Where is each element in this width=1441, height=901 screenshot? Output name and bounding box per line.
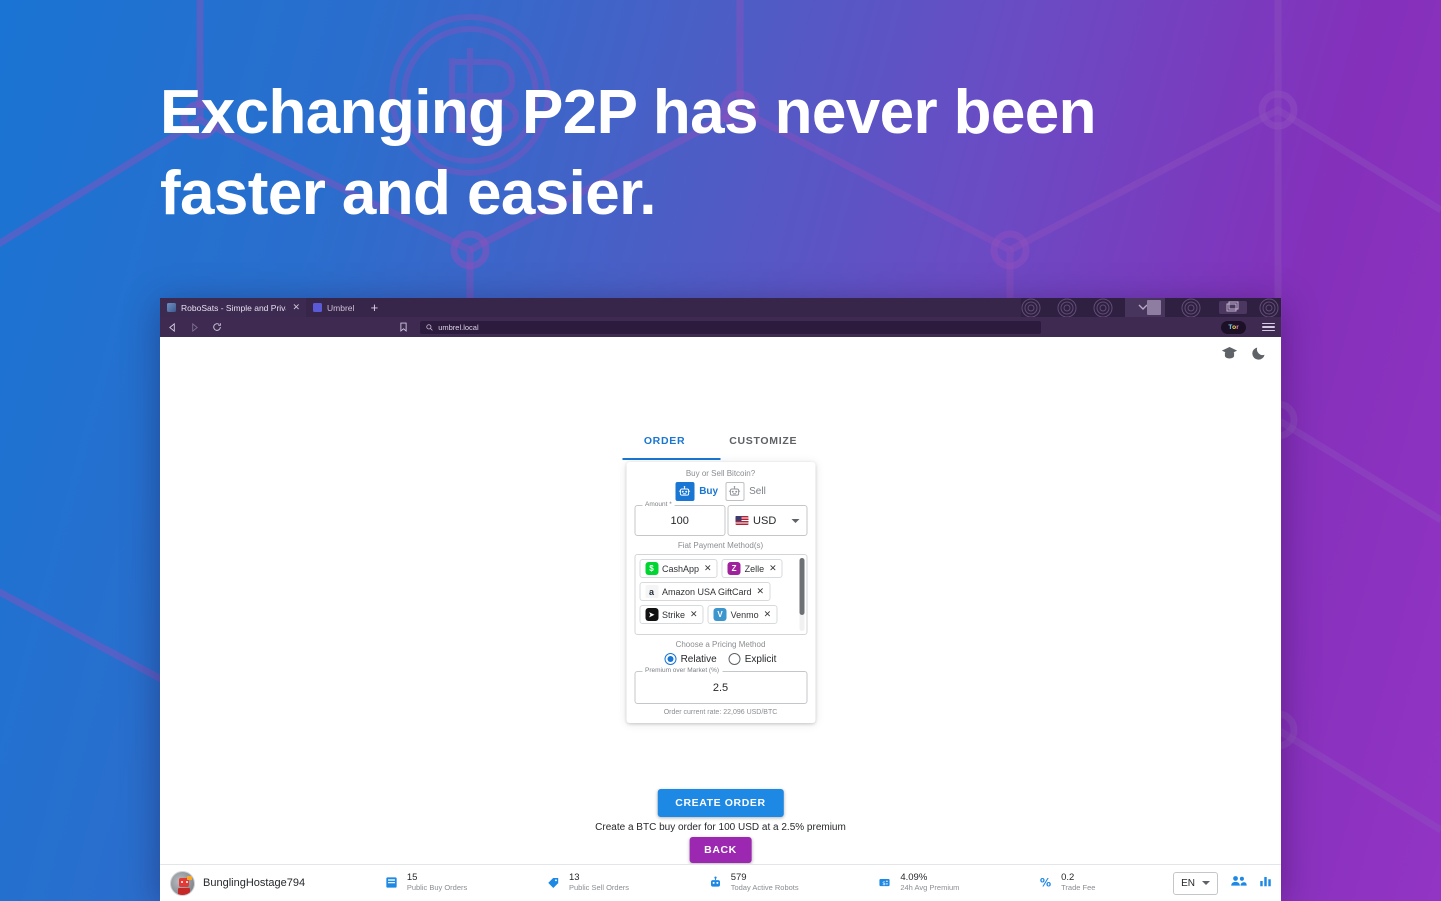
robot-icon <box>707 874 724 891</box>
address-bar-value: umbrel.local <box>438 323 478 332</box>
percent-icon: % <box>1037 874 1054 891</box>
tor-badge[interactable]: Tor <box>1221 321 1246 334</box>
amount-value: 100 <box>670 515 688 527</box>
stat-public-buy-orders: 15 Public Buy Orders <box>383 873 467 893</box>
chip-remove-icon[interactable]: ✕ <box>704 563 712 574</box>
chip-label: Amazon USA GiftCard <box>662 587 752 597</box>
book-icon <box>383 874 400 891</box>
payment-chip-zelle[interactable]: Z Zelle ✕ <box>722 559 783 578</box>
premium-field[interactable]: Premium over Market (%) 2.5 <box>634 671 807 704</box>
chip-remove-icon[interactable]: ✕ <box>690 609 698 620</box>
payment-chip-amazon-giftcard[interactable]: a Amazon USA GiftCard ✕ <box>639 582 770 601</box>
chip-label: Venmo <box>731 610 759 620</box>
browser-window: RoboSats - Simple and Private Bit ✕ Umbr… <box>160 298 1281 901</box>
screenshot-stage: Exchanging P2P has never been faster and… <box>0 0 1441 901</box>
forward-arrow-icon <box>188 321 201 334</box>
payment-methods-box[interactable]: $ CashApp ✕ Z Zelle ✕ a Amazon USA GiftC… <box>634 554 807 635</box>
stat-trade-fee: % 0.2 Trade Fee <box>1037 873 1095 893</box>
buy-sell-toggle: Buy Sell <box>634 482 807 501</box>
create-order-button[interactable]: CREATE ORDER <box>657 789 783 817</box>
tab-customize[interactable]: CUSTOMIZE <box>707 429 819 456</box>
stat-public-sell-orders: 13 Public Sell Orders <box>545 873 629 893</box>
tab-close-icon[interactable]: ✕ <box>292 303 300 312</box>
headline-line-1: Exchanging P2P has never been <box>160 72 1160 153</box>
stat-label: Public Sell Orders <box>569 884 629 893</box>
browser-tab-robosats[interactable]: RoboSats - Simple and Private Bit ✕ <box>160 298 306 317</box>
chip-label: Strike <box>662 610 685 620</box>
tab-title: RoboSats - Simple and Private Bit <box>181 303 286 313</box>
robot-avatar[interactable] <box>170 871 195 896</box>
browser-navigation-bar: umbrel.local Tor <box>160 317 1281 337</box>
app-page: ORDER CUSTOMIZE Buy or Sell Bitcoin? <box>160 337 1281 901</box>
robosats-favicon <box>167 303 176 312</box>
amount-and-currency-row: Amount * 100 USD <box>634 505 807 536</box>
app-top-icons <box>1221 345 1267 360</box>
titlebar-decorative-pattern <box>1021 298 1281 317</box>
community-people-icon[interactable] <box>1230 874 1247 893</box>
buy-sell-question: Buy or Sell Bitcoin? <box>634 469 807 478</box>
stat-24h-avg-premium: $ 4.09% 24h Avg Premium <box>876 873 959 893</box>
cashapp-icon: $ <box>645 562 658 575</box>
tag-icon <box>545 874 562 891</box>
app-tab-bar: ORDER CUSTOMIZE <box>160 429 1281 456</box>
app-status-bar: BunglingHostage794 15 Public Buy Orders <box>160 864 1281 901</box>
headline-line-2: faster and easier. <box>160 153 1160 234</box>
tab-order[interactable]: ORDER <box>622 429 707 456</box>
amount-legend: Amount * <box>642 501 675 508</box>
stat-label: Trade Fee <box>1061 884 1095 893</box>
radio-selected-icon <box>665 653 677 665</box>
amount-field[interactable]: Amount * 100 <box>634 505 725 536</box>
order-summary-text: Create a BTC buy order for 100 USD at a … <box>160 822 1281 833</box>
payment-chip-cashapp[interactable]: $ CashApp ✕ <box>639 559 718 578</box>
browser-tab-umbrel[interactable]: Umbrel <box>306 298 360 317</box>
payment-methods-scrollbar-thumb[interactable] <box>799 558 804 615</box>
radio-unselected-icon <box>729 653 741 665</box>
chevron-down-icon <box>791 519 799 523</box>
chip-label: CashApp <box>662 564 699 574</box>
hero-headline: Exchanging P2P has never been faster and… <box>160 72 1160 234</box>
us-flag-icon <box>735 516 748 525</box>
currency-select[interactable]: USD <box>727 505 807 536</box>
search-icon <box>426 324 433 331</box>
stat-today-active-robots: 579 Today Active Robots <box>707 873 799 893</box>
language-select[interactable]: EN <box>1173 872 1218 895</box>
sell-option[interactable]: Sell <box>725 482 766 501</box>
new-tab-button[interactable]: + <box>360 298 388 317</box>
order-current-rate: Order current rate: 22,096 USD/BTC <box>634 709 807 716</box>
dark-mode-moon-icon[interactable] <box>1252 345 1267 360</box>
pricing-method-radio-group: Relative Explicit <box>634 653 807 665</box>
price-tag-icon: $ <box>876 874 893 891</box>
premium-legend: Premium over Market (%) <box>642 667 722 674</box>
stat-label: Today Active Robots <box>731 884 799 893</box>
nickname-label: BunglingHostage794 <box>203 877 305 889</box>
zelle-icon: Z <box>728 562 741 575</box>
payment-methods-label: Fiat Payment Method(s) <box>634 541 807 550</box>
buy-option[interactable]: Buy <box>675 482 718 501</box>
chip-remove-icon[interactable]: ✕ <box>769 563 777 574</box>
pricing-option-explicit[interactable]: Explicit <box>729 653 777 665</box>
stats-chart-icon[interactable] <box>1258 874 1273 893</box>
payment-chip-strike[interactable]: ➤ Strike ✕ <box>639 605 704 624</box>
order-form-card: Buy or Sell Bitcoin? Buy <box>626 462 815 723</box>
pricing-option-relative[interactable]: Relative <box>665 653 717 665</box>
robot-icon-buy <box>675 482 694 501</box>
svg-text:$: $ <box>883 881 887 887</box>
buy-label: Buy <box>699 486 718 497</box>
stat-label: 24h Avg Premium <box>900 884 959 893</box>
chevron-down-icon <box>1202 881 1210 885</box>
stat-label: Public Buy Orders <box>407 884 467 893</box>
currency-value: USD <box>753 515 776 527</box>
back-arrow-icon[interactable] <box>166 321 179 334</box>
chip-remove-icon[interactable]: ✕ <box>764 609 772 620</box>
sell-label: Sell <box>749 486 766 497</box>
premium-value: 2.5 <box>713 682 728 694</box>
robot-icon-sell <box>725 482 744 501</box>
active-tab-indicator <box>622 458 819 460</box>
reload-icon[interactable] <box>210 321 223 334</box>
venmo-icon: V <box>714 608 727 621</box>
language-value: EN <box>1181 878 1195 889</box>
chip-label: Zelle <box>745 564 765 574</box>
umbrel-favicon <box>313 303 322 312</box>
relative-label: Relative <box>681 654 717 665</box>
address-bar[interactable]: umbrel.local <box>420 321 1041 334</box>
browser-tab-strip: RoboSats - Simple and Private Bit ✕ Umbr… <box>160 298 1281 317</box>
hamburger-menu-icon[interactable] <box>1262 323 1275 332</box>
pricing-method-label: Choose a Pricing Method <box>634 640 807 649</box>
chip-remove-icon[interactable]: ✕ <box>757 586 765 597</box>
svg-text:%: % <box>1040 877 1051 890</box>
status-bar-icons <box>1230 874 1273 893</box>
strike-icon: ➤ <box>645 608 658 621</box>
amazon-icon: a <box>645 585 658 598</box>
payment-method-chips: $ CashApp ✕ Z Zelle ✕ a Amazon USA GiftC… <box>639 559 802 624</box>
payment-chip-venmo[interactable]: V Venmo ✕ <box>708 605 778 624</box>
back-button[interactable]: BACK <box>689 837 752 863</box>
bookmark-icon[interactable] <box>397 322 409 332</box>
learn-graduation-cap-icon[interactable] <box>1221 346 1238 360</box>
explicit-label: Explicit <box>745 654 777 665</box>
tab-title: Umbrel <box>327 303 354 313</box>
